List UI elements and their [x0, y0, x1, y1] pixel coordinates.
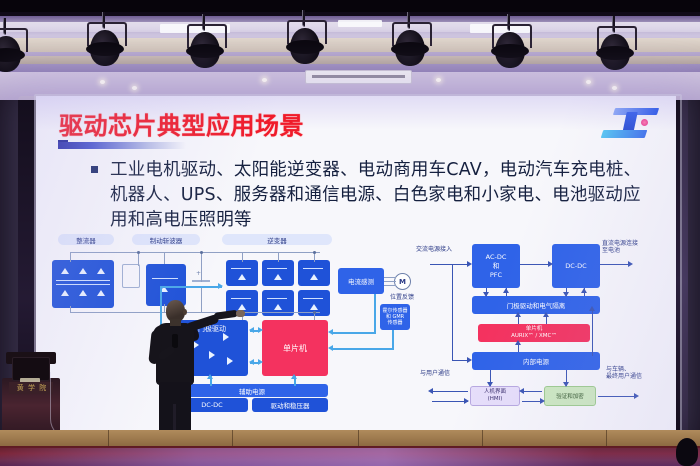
- screen-frame: [34, 94, 682, 438]
- wall-shadow-right: [688, 100, 700, 466]
- presenter-hand: [236, 310, 245, 317]
- ceiling-downlight: [100, 80, 105, 84]
- stage-light: [185, 18, 225, 70]
- stage-light: [490, 18, 530, 70]
- stage-light: [0, 22, 26, 74]
- floor-cable: [50, 372, 85, 439]
- screenshot-root: 驱动芯片典型应用场景 工业电机驱动、太阳能逆变器、电动商用车CAV，电动汽车充电…: [0, 0, 700, 466]
- ceiling-vent: [305, 70, 412, 84]
- skylight-panel: [338, 20, 382, 27]
- stage-light: [390, 16, 430, 68]
- stage-light: [595, 20, 635, 72]
- ceiling-downlight: [262, 78, 267, 82]
- ceiling-downlight: [132, 86, 137, 90]
- wood-wainscot: [0, 430, 700, 446]
- floor-light-reflection: [0, 448, 700, 466]
- presenter: [140, 300, 214, 450]
- ceiling-downlight: [436, 78, 441, 82]
- podium-plaque-text: 黄 学 院: [10, 383, 54, 393]
- audience-head: [676, 438, 698, 466]
- ceiling-downlight: [612, 86, 617, 90]
- ceiling-downlight: [586, 80, 591, 84]
- stage-light: [85, 16, 125, 68]
- stage-light: [285, 14, 325, 66]
